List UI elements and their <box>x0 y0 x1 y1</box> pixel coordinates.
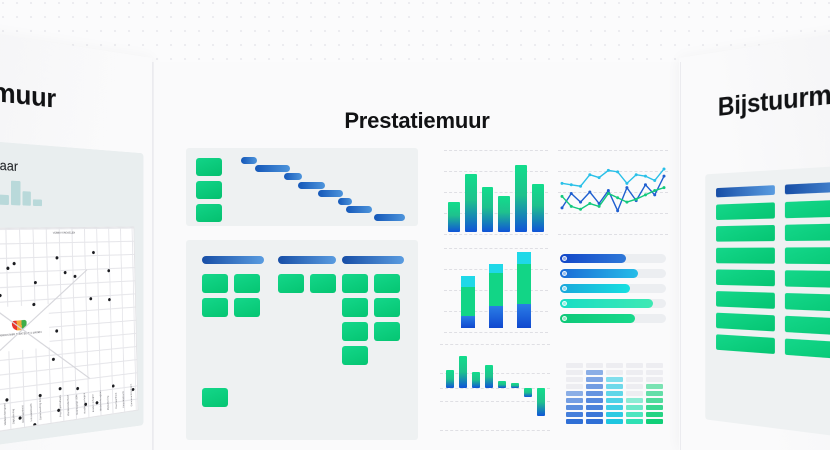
line-point <box>579 185 582 188</box>
gridline <box>558 234 668 235</box>
wall-seam-right <box>680 62 681 450</box>
waterfall-gridlines <box>440 344 550 430</box>
gantt-bar[interactable] <box>284 173 302 180</box>
line-point <box>653 179 656 182</box>
equalizer-segment <box>586 377 603 382</box>
bar <box>498 196 510 232</box>
stacked-segment <box>489 264 503 273</box>
bijstuur-header-bar[interactable] <box>785 181 830 195</box>
waterfall-bar[interactable] <box>511 383 519 388</box>
kanban-card-tile[interactable] <box>202 274 228 293</box>
horizon-bar <box>22 191 31 206</box>
line-point <box>616 196 619 199</box>
kanban-card-tile[interactable] <box>342 274 368 293</box>
bijstuur-cell[interactable] <box>716 225 775 242</box>
x-matrix-column-label: Kosten verlagen <box>91 394 94 412</box>
equalizer-segment <box>646 370 663 375</box>
line-point <box>561 206 564 209</box>
x-matrix-column-label: Duurzaamheid <box>21 405 25 423</box>
horizon-bar <box>0 195 9 205</box>
stacked-column <box>489 264 503 328</box>
waterfall-bar[interactable] <box>459 356 467 388</box>
equalizer-segment <box>566 419 583 424</box>
equalizer-segment <box>586 384 603 389</box>
line-point <box>625 201 628 204</box>
equalizer-segment <box>606 370 623 375</box>
bar <box>465 174 477 232</box>
kanban-card-tile[interactable] <box>374 322 400 341</box>
equalizer-column[interactable] <box>566 363 583 424</box>
line-point <box>616 209 619 212</box>
x-matrix-column-label: Medewerkersgroei <box>99 390 102 411</box>
bijstuur-cell[interactable] <box>785 339 830 361</box>
progress-dot-icon <box>562 286 567 291</box>
progress-dot-icon <box>562 271 567 276</box>
gridline <box>444 150 548 151</box>
progress-track[interactable] <box>560 299 666 308</box>
line-point <box>579 208 582 211</box>
x-matrix-column-label: Medewerkersgroei <box>3 403 7 425</box>
kanban-card-tile[interactable] <box>310 274 336 293</box>
equalizer-segment <box>586 398 603 403</box>
line-point <box>616 170 619 173</box>
gridline <box>444 248 548 249</box>
bar <box>515 165 527 232</box>
progress-fill <box>560 269 638 278</box>
kanban-card-tile[interactable] <box>342 298 368 317</box>
line-point <box>570 183 573 186</box>
equalizer-segment <box>586 370 603 375</box>
progress-dot-icon <box>562 256 567 261</box>
kanban-card-tile[interactable] <box>342 322 368 341</box>
gridline <box>440 430 550 431</box>
gridline <box>440 373 550 374</box>
x-matrix-column-label: Duurzaamheid <box>115 393 118 409</box>
progress-fill <box>560 299 653 308</box>
equalizer-column[interactable] <box>626 363 643 424</box>
line-point <box>579 201 582 204</box>
line-point <box>588 191 591 194</box>
bijstuur-cell[interactable] <box>716 248 775 264</box>
x-matrix-sheet[interactable]: VERBETERDOELEN HOSHIN KANRI STRATEGIE X-… <box>0 227 138 449</box>
line-point <box>625 182 628 185</box>
horizon-bar-chart <box>0 179 42 206</box>
progress-track[interactable] <box>560 254 666 263</box>
line-point <box>598 205 601 208</box>
waterfall-bar[interactable] <box>446 370 454 388</box>
gantt-bar[interactable] <box>338 198 352 205</box>
x-matrix-column-label: Innovatiekracht <box>122 391 125 408</box>
kanban-card-tile[interactable] <box>202 298 228 317</box>
stacked-column-chart[interactable] <box>444 248 548 332</box>
line-point <box>570 192 573 195</box>
bijstuur-cell[interactable] <box>716 291 775 309</box>
horizon-label: 3-5 jaar <box>0 156 18 174</box>
gantt-task-tile[interactable] <box>196 158 222 176</box>
line-series <box>562 169 664 186</box>
equalizer-segment <box>586 391 603 396</box>
wall-panel-bijstuurmuur[interactable]: Bijstuurmuur <box>679 14 830 450</box>
bijstuur-grid[interactable] <box>705 159 830 450</box>
equalizer-column[interactable] <box>606 363 623 424</box>
bijstuur-cell[interactable] <box>785 199 830 218</box>
equalizer-segment <box>586 363 603 368</box>
line-point <box>607 192 610 195</box>
line-point <box>625 186 628 189</box>
wall-panel-prestatiemuur[interactable]: Prestatiemuur <box>153 62 681 450</box>
equalizer-segment <box>566 412 583 417</box>
line-point <box>588 202 591 205</box>
scene-root: Doelenmuur visie 🔭 3-5 jaar VERBETERDOEL… <box>0 0 830 450</box>
stacked-chart-columns <box>454 252 538 328</box>
equalizer-segment <box>626 377 643 382</box>
stacked-column <box>461 276 475 328</box>
equalizer-segment <box>646 377 663 382</box>
line-point <box>588 173 591 176</box>
equalizer-segment <box>566 398 583 403</box>
line-chart[interactable] <box>558 150 668 234</box>
gantt-bar[interactable] <box>241 157 258 164</box>
line-point <box>561 182 564 185</box>
kanban-card-tile[interactable] <box>234 298 260 317</box>
stacked-segment <box>461 287 475 316</box>
gantt-bar[interactable] <box>298 182 325 189</box>
x-matrix-dot <box>33 423 36 427</box>
doelen-board[interactable]: visie 🔭 3-5 jaar VERBETERDOELEN HOSHIN K… <box>0 133 143 450</box>
line-chart-svg <box>558 150 668 234</box>
kanban-card-tile[interactable] <box>234 274 260 293</box>
progress-fill <box>560 314 635 323</box>
x-matrix-dot <box>92 251 95 254</box>
wall-panel-doelenmuur[interactable]: Doelenmuur visie 🔭 3-5 jaar VERBETERDOEL… <box>0 14 152 450</box>
line-point <box>644 175 647 178</box>
equalizer-segment <box>626 370 643 375</box>
equalizer-segment <box>626 419 643 424</box>
equalizer-column[interactable] <box>586 363 603 424</box>
bijstuur-header-bar[interactable] <box>716 185 775 197</box>
bijstuur-cell[interactable] <box>785 223 830 241</box>
progress-dot-icon <box>562 301 567 306</box>
bijstuur-cell[interactable] <box>716 202 775 220</box>
equalizer-segment <box>626 398 643 403</box>
equalizer-segment <box>606 405 623 410</box>
bijstuur-cell[interactable] <box>716 313 775 332</box>
bijstuur-cell[interactable] <box>785 247 830 264</box>
kanban-column-header[interactable] <box>342 256 404 264</box>
gridline <box>440 401 550 402</box>
gantt-task-tile[interactable] <box>196 204 222 222</box>
equalizer-segment <box>606 377 623 382</box>
waterfall-bar[interactable] <box>485 365 493 388</box>
gantt-bar[interactable] <box>374 214 405 221</box>
equalizer-segment <box>566 377 583 382</box>
horizon-bar <box>33 199 42 206</box>
x-matrix-top-label: VERBETERDOELEN <box>53 231 75 234</box>
bijstuur-cell[interactable] <box>716 269 775 286</box>
equalizer-segment <box>606 412 623 417</box>
bijstuur-cell[interactable] <box>785 293 830 312</box>
equalizer-segment <box>586 412 603 417</box>
gridline <box>444 332 548 333</box>
bijstuur-cell[interactable] <box>785 316 830 337</box>
line-point <box>663 167 666 170</box>
x-matrix-dot <box>55 256 58 259</box>
gantt-bar[interactable] <box>255 165 291 172</box>
kanban-card[interactable] <box>186 240 418 440</box>
equalizer-segment <box>606 363 623 368</box>
kanban-column-header[interactable] <box>202 256 264 264</box>
equalizer-segment <box>646 412 663 417</box>
equalizer-segment <box>646 398 663 403</box>
progress-bars[interactable] <box>558 248 668 332</box>
line-point <box>598 176 601 179</box>
wall-title-doelenmuur: Doelenmuur <box>0 64 56 115</box>
waterfall-chart[interactable] <box>440 344 550 430</box>
progress-track[interactable] <box>560 269 666 278</box>
equalizer-segment <box>606 419 623 424</box>
gantt-bar[interactable] <box>318 190 342 197</box>
line-point <box>607 189 610 192</box>
x-matrix-column-label: Samenwerking keten <box>38 396 42 421</box>
equalizer-segment <box>566 391 583 396</box>
kanban-card-tile[interactable] <box>278 274 304 293</box>
stacked-segment <box>489 306 503 328</box>
waterfall-bar[interactable] <box>498 381 506 388</box>
equalizer-segment <box>626 384 643 389</box>
horizon-bar <box>11 181 20 206</box>
stacked-segment <box>461 316 475 328</box>
waterfall-zero-line <box>440 388 550 389</box>
stacked-column <box>517 252 531 328</box>
equalizer-segment <box>626 363 643 368</box>
bar <box>532 184 544 232</box>
line-point <box>663 186 666 189</box>
waterfall-bar[interactable] <box>524 388 532 397</box>
equalizer-segment <box>646 405 663 410</box>
x-matrix-column-label: Procesoptimalisatie <box>59 395 62 418</box>
gantt-card[interactable] <box>186 148 418 226</box>
equalizer-segment <box>626 412 643 417</box>
bar-chart[interactable] <box>444 150 548 234</box>
gridline <box>444 234 548 235</box>
progress-dot-icon <box>562 316 567 321</box>
bar <box>482 187 494 232</box>
kanban-card-tile[interactable] <box>374 274 400 293</box>
waterfall-bar[interactable] <box>472 372 480 388</box>
equalizer-segment <box>566 405 583 410</box>
gantt-task-tile[interactable] <box>196 181 222 199</box>
stacked-segment <box>489 273 503 306</box>
wall-seam-left <box>152 62 153 450</box>
line-point <box>653 193 656 196</box>
stacked-segment <box>517 304 531 328</box>
bijstuur-cell[interactable] <box>716 334 775 354</box>
equalizer-segment <box>606 391 623 396</box>
line-point <box>570 205 573 208</box>
equalizer-segment <box>606 398 623 403</box>
bar-chart-bars <box>448 154 544 232</box>
kanban-card-tile[interactable] <box>202 388 228 407</box>
x-matrix-dot <box>107 269 110 272</box>
progress-track[interactable] <box>560 314 666 323</box>
stacked-segment <box>517 252 531 264</box>
line-point <box>644 183 647 186</box>
equalizer-column[interactable] <box>646 363 663 424</box>
equalizer-chart[interactable] <box>560 344 670 430</box>
equalizer-segment <box>646 384 663 389</box>
progress-fill <box>560 284 630 293</box>
line-point <box>635 198 638 201</box>
kanban-card-tile[interactable] <box>374 298 400 317</box>
stacked-segment <box>517 264 531 304</box>
equalizer-segment <box>626 405 643 410</box>
kanban-column-header[interactable] <box>278 256 336 264</box>
waterfall-bar[interactable] <box>537 388 545 416</box>
x-matrix-column-label: Innovatiekracht <box>30 403 34 421</box>
wall-title-prestatiemuur: Prestatiemuur <box>154 108 680 134</box>
wall-title-bijstuurmuur: Bijstuurmuur <box>718 74 830 123</box>
equalizer-segment <box>646 391 663 396</box>
bijstuur-cell[interactable] <box>785 270 830 288</box>
progress-fill <box>560 254 626 263</box>
equalizer-segment <box>606 384 623 389</box>
equalizer-segment <box>626 391 643 396</box>
line-point <box>663 175 666 178</box>
equalizer-segment <box>566 370 583 375</box>
progress-track[interactable] <box>560 284 666 293</box>
line-point <box>644 193 647 196</box>
equalizer-segment <box>566 384 583 389</box>
line-point <box>653 189 656 192</box>
line-point <box>607 169 610 172</box>
gantt-bar[interactable] <box>346 206 371 213</box>
x-matrix-column-label: Samenwerking keten <box>130 384 133 407</box>
line-point <box>635 173 638 176</box>
bar <box>448 202 460 232</box>
equalizer-segment <box>586 405 603 410</box>
stacked-segment <box>461 276 475 286</box>
equalizer-segment <box>646 419 663 424</box>
x-matrix-column-label: Doorlooptijd -20% <box>75 394 78 414</box>
line-point <box>561 195 564 198</box>
kanban-card-tile[interactable] <box>342 346 368 365</box>
equalizer-segment <box>646 363 663 368</box>
equalizer-segment <box>566 363 583 368</box>
gridline <box>440 344 550 345</box>
x-matrix-dot <box>13 262 16 265</box>
equalizer-segment <box>586 419 603 424</box>
